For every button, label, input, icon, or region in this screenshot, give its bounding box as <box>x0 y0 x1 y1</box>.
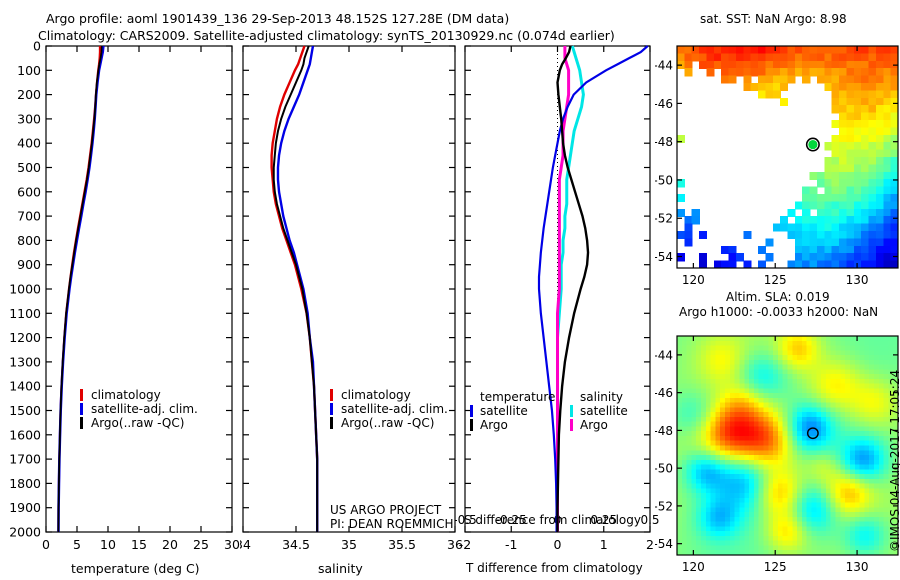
sla-pixel <box>768 369 773 374</box>
sla-pixel <box>874 455 879 460</box>
sla-pixel <box>807 407 812 412</box>
sst-pixel <box>802 61 810 69</box>
sla-pixel <box>735 493 740 498</box>
sla-pixel <box>879 455 884 460</box>
sla-pixel <box>759 488 764 493</box>
sla-pixel <box>696 388 701 393</box>
sst-pixel <box>854 201 862 209</box>
sla-pixel <box>860 398 865 403</box>
sla-pixel <box>792 441 797 446</box>
sla-pixel <box>715 346 720 351</box>
sla-pixel <box>691 493 696 498</box>
sst-pixel <box>854 98 862 106</box>
map-sla-svg: 120125130-44-46-48-50-52-54 <box>655 318 900 580</box>
sla-pixel <box>739 465 744 470</box>
sla-pixel <box>759 369 764 374</box>
sla-pixel <box>773 474 778 479</box>
sla-pixel <box>759 493 764 498</box>
sla-pixel <box>763 474 768 479</box>
sla-pixel <box>821 484 826 489</box>
sla-pixel <box>701 460 706 465</box>
sla-pixel <box>826 503 831 508</box>
sla-pixel <box>715 493 720 498</box>
sla-pixel <box>677 479 682 484</box>
sla-pixel <box>812 360 817 365</box>
sla-pixel <box>706 455 711 460</box>
sla-pixel <box>831 465 836 470</box>
sla-pixel <box>763 469 768 474</box>
sla-pixel <box>677 426 682 431</box>
temperature-xtick-label: 0 <box>42 537 50 552</box>
sla-pixel <box>701 336 706 341</box>
sla-pixel <box>773 503 778 508</box>
sst-pixel <box>832 172 840 180</box>
sla-pixel <box>725 398 730 403</box>
sla-pixel <box>845 503 850 508</box>
sla-pixel <box>778 436 783 441</box>
sst-pixel <box>861 150 869 158</box>
sla-pixel <box>725 422 730 427</box>
sla-pixel <box>850 441 855 446</box>
sla-pixel <box>701 407 706 412</box>
sla-pixel <box>735 412 740 417</box>
sst-pixel <box>684 46 692 54</box>
sla-pixel <box>725 341 730 346</box>
sla-pixel <box>860 479 865 484</box>
sla-pixel <box>725 365 730 370</box>
sla-pixel <box>802 426 807 431</box>
sla-pixel <box>860 412 865 417</box>
sst-pixel <box>854 231 862 239</box>
sla-pixel <box>816 512 821 517</box>
sst-pixel <box>876 224 884 232</box>
sla-pixel <box>831 417 836 422</box>
sla-pixel <box>759 393 764 398</box>
sla-pixel <box>855 374 860 379</box>
sla-pixel <box>706 531 711 536</box>
sla-pixel <box>691 526 696 531</box>
sst-pixel <box>854 224 862 232</box>
salinity-xtick-label: 34.5 <box>282 537 310 552</box>
sla-pixel <box>792 484 797 489</box>
sla-pixel <box>816 450 821 455</box>
sla-pixel <box>821 450 826 455</box>
sla-pixel <box>687 450 692 455</box>
sla-pixel <box>696 465 701 470</box>
sla-pixel <box>739 407 744 412</box>
sla-pixel <box>836 503 841 508</box>
sla-pixel <box>831 522 836 527</box>
sla-pixel <box>706 536 711 541</box>
sla-pixel <box>812 545 817 550</box>
sla-pixel <box>792 522 797 527</box>
credit-project: US ARGO PROJECT <box>330 503 441 517</box>
sla-pixel <box>715 536 720 541</box>
sla-pixel <box>836 412 841 417</box>
sst-pixel <box>883 238 891 246</box>
sla-pixel <box>879 436 884 441</box>
sla-pixel <box>807 469 812 474</box>
sla-pixel <box>715 517 720 522</box>
sla-pixel <box>860 446 865 451</box>
sla-pixel <box>739 355 744 360</box>
sla-pixel <box>792 426 797 431</box>
sla-pixel <box>749 488 754 493</box>
sla-pixel <box>706 365 711 370</box>
sla-pixel <box>706 341 711 346</box>
sla-pixel <box>759 450 764 455</box>
sla-pixel <box>860 388 865 393</box>
sla-pixel <box>788 407 793 412</box>
sla-pixel <box>812 517 817 522</box>
sla-pixel <box>850 360 855 365</box>
sla-pixel <box>749 412 754 417</box>
legend-group-salinity: salinity <box>580 390 623 404</box>
salinity-climatology-line <box>272 46 318 532</box>
sla-pixel <box>749 355 754 360</box>
sst-pixel <box>869 53 877 61</box>
sst-pixel <box>758 83 766 91</box>
sst-pixel <box>684 61 692 69</box>
sla-pixel <box>816 469 821 474</box>
sla-pixel <box>682 479 687 484</box>
sst-pixel <box>846 150 854 158</box>
sla-pixel <box>869 431 874 436</box>
sla-pixel <box>831 355 836 360</box>
sst-pixel <box>846 179 854 187</box>
sla-pixel <box>768 379 773 384</box>
sla-pixel <box>739 493 744 498</box>
sst-pixel <box>758 61 766 69</box>
sst-pixel <box>869 246 877 254</box>
sla-pixel <box>802 479 807 484</box>
sla-pixel <box>836 522 841 527</box>
depth-tick-label: 1700 <box>9 452 41 467</box>
sla-pixel <box>720 365 725 370</box>
sla-pixel <box>715 441 720 446</box>
sla-pixel <box>749 460 754 465</box>
sla-pixel <box>874 407 879 412</box>
sla-pixel <box>783 346 788 351</box>
sla-pixel <box>759 531 764 536</box>
sla-pixel <box>706 336 711 341</box>
sla-pixel <box>864 393 869 398</box>
sla-pixel <box>744 369 749 374</box>
sla-pixel <box>768 403 773 408</box>
sla-pixel <box>687 398 692 403</box>
sla-pixel <box>711 355 716 360</box>
sla-pixel <box>797 379 802 384</box>
sla-pixel <box>783 350 788 355</box>
sla-pixel <box>788 369 793 374</box>
sla-pixel <box>773 465 778 470</box>
sla-pixel <box>788 522 793 527</box>
sst-pixel <box>839 179 847 187</box>
sla-pixel <box>855 536 860 541</box>
sla-pixel <box>696 398 701 403</box>
sst-pixel <box>802 224 810 232</box>
depth-tick-label: 1300 <box>9 354 41 369</box>
sla-pixel <box>836 450 841 455</box>
sla-pixel <box>807 541 812 546</box>
sla-pixel <box>730 531 735 536</box>
sla-pixel <box>879 512 884 517</box>
sla-pixel <box>768 365 773 370</box>
sst-pixel <box>817 216 825 224</box>
sst-pixel <box>869 68 877 76</box>
sla-pixel <box>720 450 725 455</box>
sla-pixel <box>864 536 869 541</box>
sla-pixel <box>869 388 874 393</box>
sst-pixel <box>832 68 840 76</box>
sst-pixel <box>883 150 891 158</box>
sst-pixel <box>802 68 810 76</box>
sla-pixel <box>677 407 682 412</box>
sla-pixel <box>720 507 725 512</box>
sla-pixel <box>730 426 735 431</box>
sla-pixel <box>855 446 860 451</box>
sla-pixel <box>696 426 701 431</box>
sla-pixel <box>749 446 754 451</box>
sla-pixel <box>821 403 826 408</box>
sla-pixel <box>879 379 884 384</box>
sla-pixel <box>749 407 754 412</box>
sla-pixel <box>691 436 696 441</box>
sla-pixel <box>802 398 807 403</box>
sst-pixel <box>861 253 869 261</box>
sla-pixel <box>754 426 759 431</box>
sla-pixel <box>845 522 850 527</box>
sst-pixel <box>839 113 847 121</box>
sst-pixel <box>839 105 847 113</box>
sst-pixel <box>795 216 803 224</box>
sst-pixel <box>869 120 877 128</box>
sla-pixel <box>725 336 730 341</box>
sla-pixel <box>788 379 793 384</box>
sla-pixel <box>840 355 845 360</box>
sla-pixel <box>701 403 706 408</box>
sla-pixel <box>840 365 845 370</box>
sla-pixel <box>754 360 759 365</box>
sla-pixel <box>744 431 749 436</box>
sla-pixel <box>864 407 869 412</box>
sla-pixel <box>812 407 817 412</box>
sla-pixel <box>768 355 773 360</box>
sst-pixel <box>684 53 692 61</box>
sla-pixel <box>687 374 692 379</box>
sla-pixel <box>773 360 778 365</box>
sla-pixel <box>855 512 860 517</box>
sla-pixel <box>691 422 696 427</box>
sst-pixel <box>883 46 891 54</box>
sst-pixel <box>817 61 825 69</box>
sla-pixel <box>754 379 759 384</box>
sst-pixel <box>846 105 854 113</box>
sla-pixel <box>735 450 740 455</box>
sla-pixel <box>735 436 740 441</box>
sla-pixel <box>739 431 744 436</box>
sla-pixel <box>725 541 730 546</box>
sla-pixel <box>778 393 783 398</box>
sla-pixel <box>749 517 754 522</box>
sla-pixel <box>768 512 773 517</box>
sla-pixel <box>744 355 749 360</box>
sla-pixel <box>715 503 720 508</box>
sla-pixel <box>725 507 730 512</box>
sla-pixel <box>792 474 797 479</box>
sla-pixel <box>759 517 764 522</box>
sla-pixel <box>711 360 716 365</box>
sst-pixel <box>839 135 847 143</box>
sla-pixel <box>797 507 802 512</box>
sla-pixel <box>831 379 836 384</box>
sla-pixel <box>788 431 793 436</box>
sla-pixel <box>879 407 884 412</box>
sla-pixel <box>845 388 850 393</box>
sla-pixel <box>763 545 768 550</box>
sst-pixel <box>736 253 744 261</box>
sla-pixel <box>874 422 879 427</box>
sla-pixel <box>739 474 744 479</box>
sla-pixel <box>855 436 860 441</box>
sla-pixel <box>715 531 720 536</box>
sla-pixel <box>845 479 850 484</box>
sla-pixel <box>682 412 687 417</box>
sla-pixel <box>845 517 850 522</box>
sla-pixel <box>860 436 865 441</box>
sla-pixel <box>788 441 793 446</box>
sla-pixel <box>879 517 884 522</box>
sla-pixel <box>725 484 730 489</box>
sla-pixel <box>836 350 841 355</box>
sla-pixel <box>783 507 788 512</box>
map-sla-title-line2: Argo h1000: -0.0033 h2000: NaN <box>679 305 878 319</box>
sla-pixel <box>682 484 687 489</box>
sla-pixel <box>754 465 759 470</box>
sla-pixel <box>831 446 836 451</box>
sla-pixel <box>874 517 879 522</box>
sst-pixel <box>861 46 869 54</box>
sla-pixel <box>735 341 740 346</box>
sst-pixel <box>817 201 825 209</box>
sla-pixel <box>840 393 845 398</box>
sla-pixel <box>706 469 711 474</box>
sst-pixel <box>839 172 847 180</box>
sla-pixel <box>739 541 744 546</box>
map-sla-ytick-label: -44 <box>655 348 673 362</box>
sla-pixel <box>744 507 749 512</box>
sla-pixel <box>869 484 874 489</box>
sla-pixel <box>821 422 826 427</box>
sla-pixel <box>783 388 788 393</box>
sla-pixel <box>797 469 802 474</box>
sla-pixel <box>739 469 744 474</box>
sla-pixel <box>754 450 759 455</box>
sst-pixel <box>824 216 832 224</box>
sla-pixel <box>730 493 735 498</box>
sla-pixel <box>711 403 716 408</box>
sst-pixel <box>869 201 877 209</box>
sla-pixel <box>831 460 836 465</box>
sla-pixel <box>691 341 696 346</box>
sla-pixel <box>836 488 841 493</box>
sla-pixel <box>836 436 841 441</box>
sla-pixel <box>768 388 773 393</box>
sla-pixel <box>802 450 807 455</box>
sla-pixel <box>701 374 706 379</box>
sla-pixel <box>845 336 850 341</box>
t-difference-xtick-label: 0 <box>554 537 562 552</box>
sla-pixel <box>850 379 855 384</box>
sla-pixel <box>706 503 711 508</box>
sla-pixel <box>792 517 797 522</box>
sla-pixel <box>855 384 860 389</box>
sla-pixel <box>720 469 725 474</box>
sla-pixel <box>821 417 826 422</box>
sla-pixel <box>691 450 696 455</box>
sst-pixel <box>839 216 847 224</box>
sla-pixel <box>802 517 807 522</box>
sla-pixel <box>759 460 764 465</box>
sst-pixel <box>795 238 803 246</box>
sst-pixel <box>810 253 818 261</box>
sst-pixel <box>810 61 818 69</box>
sla-pixel <box>855 398 860 403</box>
sla-pixel <box>840 484 845 489</box>
sla-pixel <box>874 498 879 503</box>
sla-pixel <box>701 526 706 531</box>
sla-pixel <box>763 379 768 384</box>
sst-pixel <box>729 253 737 261</box>
sla-pixel <box>840 503 845 508</box>
sla-pixel <box>749 465 754 470</box>
sla-pixel <box>788 422 793 427</box>
sla-pixel <box>763 446 768 451</box>
sla-pixel <box>836 545 841 550</box>
sla-pixel <box>826 398 831 403</box>
sla-pixel <box>720 484 725 489</box>
sla-pixel <box>778 545 783 550</box>
sla-pixel <box>706 441 711 446</box>
sla-pixel <box>821 460 826 465</box>
sla-pixel <box>687 488 692 493</box>
sla-pixel <box>696 493 701 498</box>
sla-pixel <box>677 384 682 389</box>
sla-pixel <box>792 488 797 493</box>
sla-pixel <box>855 393 860 398</box>
sst-pixel <box>788 68 796 76</box>
sla-pixel <box>831 369 836 374</box>
sst-pixel <box>854 194 862 202</box>
sla-pixel <box>812 498 817 503</box>
sla-pixel <box>739 412 744 417</box>
sla-pixel <box>730 522 735 527</box>
sla-pixel <box>845 536 850 541</box>
sla-pixel <box>754 393 759 398</box>
sla-pixel <box>812 422 817 427</box>
sla-pixel <box>821 488 826 493</box>
sla-pixel <box>869 465 874 470</box>
sla-pixel <box>783 369 788 374</box>
sla-pixel <box>725 388 730 393</box>
sla-pixel <box>855 479 860 484</box>
sla-pixel <box>773 374 778 379</box>
sla-pixel <box>706 522 711 527</box>
sla-pixel <box>682 360 687 365</box>
sst-pixel <box>824 246 832 254</box>
sla-pixel <box>763 398 768 403</box>
sst-pixel <box>817 253 825 261</box>
